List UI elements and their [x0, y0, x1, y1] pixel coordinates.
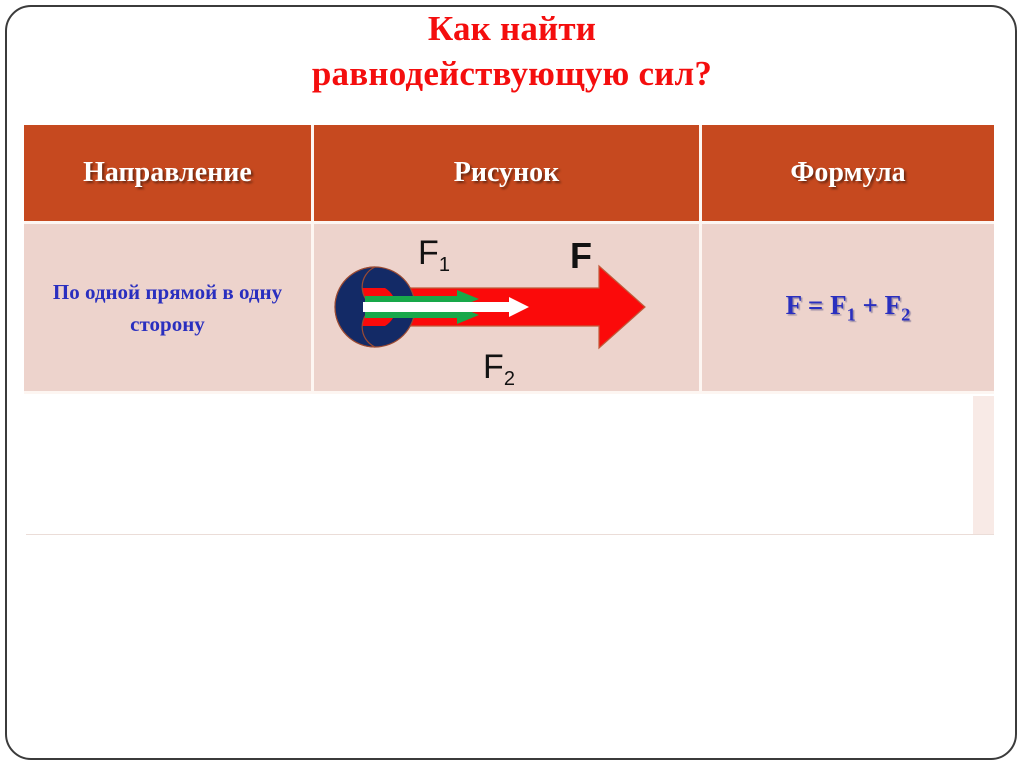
content-mask-edge-strip: [973, 396, 994, 535]
label-force-2: F2: [483, 348, 515, 388]
content-mask-hairline: [26, 534, 994, 535]
force-diagram: F1 F F2: [327, 228, 687, 388]
formula-plus: +: [863, 290, 878, 320]
formula-term-1-sub: 1: [847, 304, 856, 324]
page-title-line-1: Как найти: [0, 6, 1024, 51]
page-title-line-2: равнодействующую сил?: [0, 51, 1024, 96]
cell-formula: F = F1 + F2: [702, 224, 994, 394]
column-header-direction: Направление: [24, 125, 314, 224]
label-force-1: F1: [418, 234, 450, 276]
formula-lhs: F: [786, 290, 802, 320]
table-row: По одной прямой в одну сторону: [24, 224, 994, 394]
forces-table: Направление Рисунок Формула По одной пря…: [24, 125, 994, 394]
formula-term-1: F: [830, 290, 847, 320]
page-title: Как найти равнодействующую сил?: [0, 6, 1024, 96]
table-header-row: Направление Рисунок Формула: [24, 125, 994, 224]
label-resultant: F: [570, 235, 592, 276]
cell-picture: F1 F F2: [314, 224, 702, 394]
column-header-formula: Формула: [702, 125, 994, 224]
cell-direction: По одной прямой в одну сторону: [24, 224, 314, 394]
formula-term-2-sub: 2: [901, 304, 910, 324]
content-reveal-mask: [26, 396, 973, 536]
formula-term-2: F: [885, 290, 902, 320]
formula-equals: =: [808, 290, 823, 320]
column-header-picture: Рисунок: [314, 125, 702, 224]
